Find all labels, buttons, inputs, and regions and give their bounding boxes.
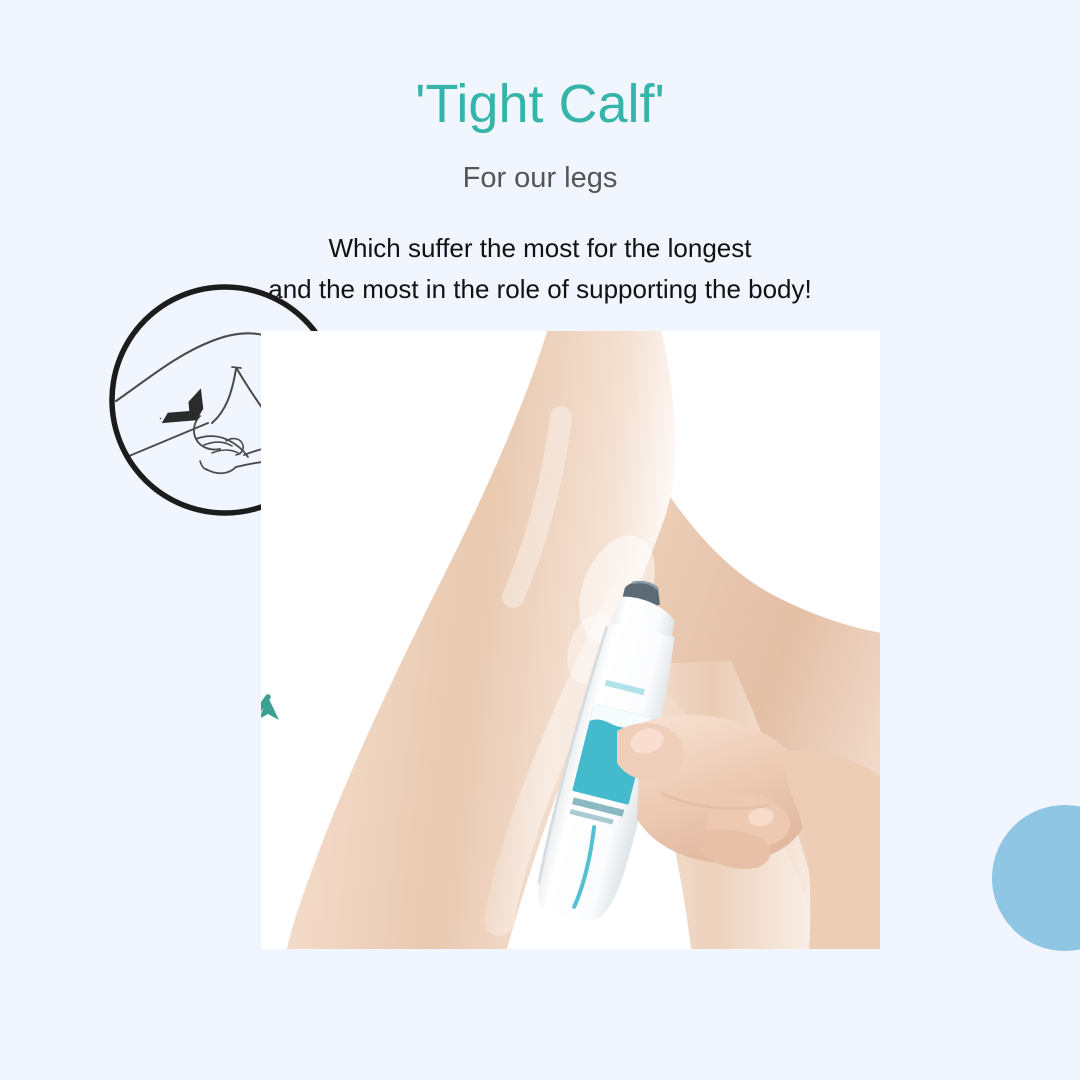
leg-lotion-photo bbox=[261, 331, 880, 949]
page-subtitle: For our legs bbox=[0, 163, 1080, 195]
page-title: 'Tight Calf' bbox=[0, 76, 1080, 133]
accent-circle bbox=[992, 805, 1080, 951]
poster-canvas: 'Tight Calf' For our legs Which suffer t… bbox=[0, 0, 1080, 1080]
body-text-line-1: Which suffer the most for the longest bbox=[329, 233, 752, 263]
leg-lotion-application-image bbox=[261, 331, 880, 949]
